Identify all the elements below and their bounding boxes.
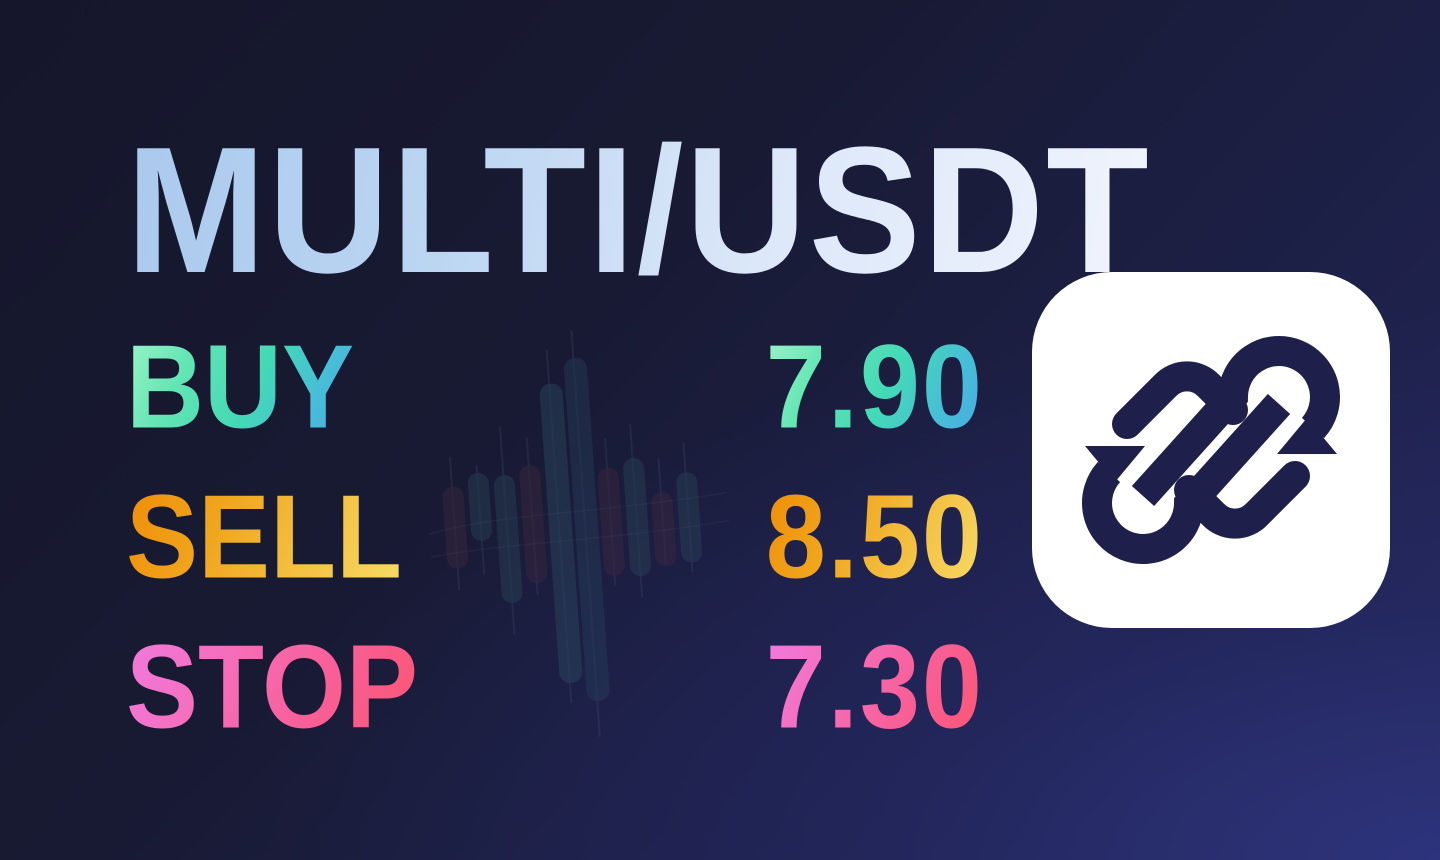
multichain-infinity-logo-icon bbox=[1061, 300, 1361, 600]
page-title: MULTI/USDT bbox=[126, 120, 1151, 300]
signal-value-sell: 8.50 bbox=[766, 477, 984, 596]
signal-value-buy: 7.90 bbox=[766, 327, 984, 446]
signal-label-sell: SELL bbox=[126, 477, 402, 596]
signal-row-sell: SELL 8.50 bbox=[126, 488, 984, 638]
token-logo-card bbox=[1032, 272, 1390, 628]
signal-label-buy: BUY bbox=[126, 327, 354, 446]
signal-row-stop: STOP 7.30 bbox=[126, 638, 984, 788]
signal-row-buy: BUY 7.90 bbox=[126, 338, 984, 488]
signal-label-stop: STOP bbox=[126, 627, 418, 746]
signal-list: BUY 7.90 SELL 8.50 STOP 7.30 bbox=[126, 338, 984, 788]
signal-card: MULTI/USDT BUY 7.90 SELL 8.50 STOP 7.30 bbox=[0, 0, 1440, 860]
signal-value-stop: 7.30 bbox=[766, 627, 984, 746]
